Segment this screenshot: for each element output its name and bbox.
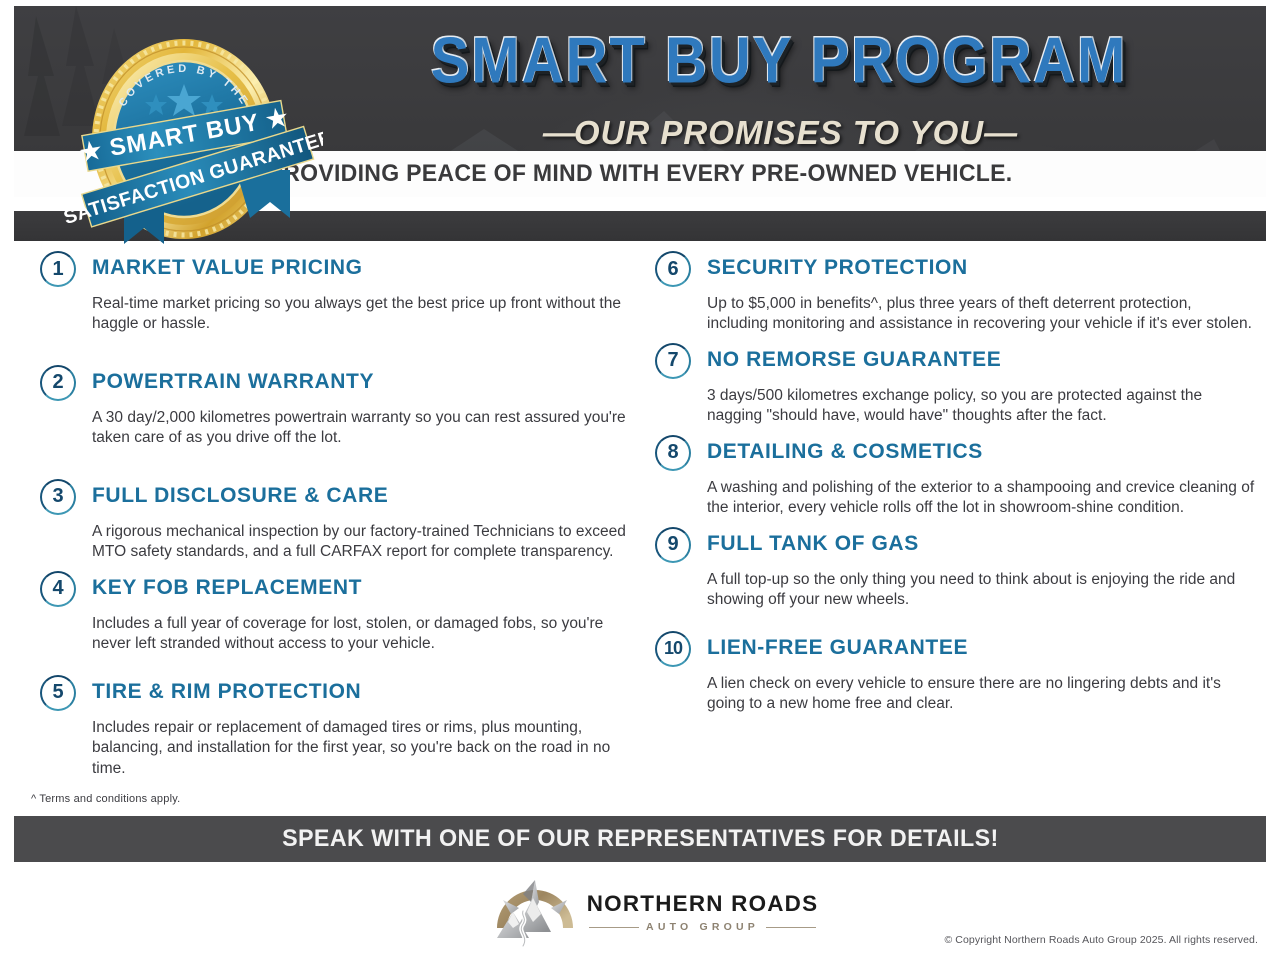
- promise-header: 7 NO REMORSE GUARANTEE: [655, 347, 1255, 379]
- smart-buy-satisfaction-guarantee-badge-icon: COVERED BY THE ★ SMART BUY ★ SATISFACTIO…: [58, 22, 323, 257]
- promise-number-badge: 1: [40, 251, 76, 287]
- promise-description: A washing and polishing of the exterior …: [707, 478, 1255, 519]
- promise-description: A rigorous mechanical inspection by our …: [92, 522, 640, 563]
- promise-item: 9 FULL TANK OF GAS A full top-up so the …: [655, 531, 1255, 611]
- promise-item: 8 DETAILING & COSMETICS A washing and po…: [655, 439, 1255, 519]
- brand-logo: NORTHERN ROADS AUTO GROUP: [489, 878, 819, 948]
- promise-description: A full top-up so the only thing you need…: [707, 570, 1255, 611]
- promises-section: 1 MARKET VALUE PRICING Real-time market …: [0, 255, 1280, 810]
- brand-wordmark: NORTHERN ROADS AUTO GROUP: [589, 893, 816, 933]
- promise-item: 4 KEY FOB REPLACEMENT Includes a full ye…: [40, 575, 640, 655]
- promise-number-badge: 9: [655, 527, 691, 563]
- brand-rule-left: [589, 927, 639, 928]
- subtitle-dash-left: —: [543, 114, 574, 151]
- promise-header: 2 POWERTRAIN WARRANTY: [40, 369, 640, 401]
- promise-description: 3 days/500 kilometres exchange policy, s…: [707, 386, 1255, 427]
- subtitle-dash-right: —: [984, 114, 1015, 151]
- promise-description: A lien check on every vehicle to ensure …: [707, 674, 1255, 715]
- promises-column-left: 1 MARKET VALUE PRICING Real-time market …: [40, 255, 640, 795]
- promise-number-badge: 2: [40, 365, 76, 401]
- brand-name: NORTHERN ROADS: [587, 893, 819, 915]
- smart-buy-program-flyer: SMART BUY PROGRAM —OUR PROMISES TO YOU— …: [0, 0, 1280, 960]
- promise-description: A 30 day/2,000 kilometres powertrain war…: [92, 408, 640, 449]
- page-title: SMART BUY PROGRAM: [314, 29, 1244, 94]
- promise-number-badge: 6: [655, 251, 691, 287]
- promise-description: Up to $5,000 in benefits^, plus three ye…: [707, 294, 1255, 335]
- terms-note: ^ Terms and conditions apply.: [31, 793, 180, 805]
- northern-roads-mountain-compass-icon: [489, 878, 581, 948]
- cta-bar: SPEAK WITH ONE OF OUR REPRESENTATIVES FO…: [14, 816, 1266, 862]
- promise-number-badge: 4: [40, 571, 76, 607]
- brand-tagline-text: AUTO GROUP: [646, 921, 759, 933]
- promise-header: 3 FULL DISCLOSURE & CARE: [40, 483, 640, 515]
- promise-header: 9 FULL TANK OF GAS: [655, 531, 1255, 563]
- promise-number-badge: 3: [40, 479, 76, 515]
- promise-title: LIEN-FREE GUARANTEE: [707, 635, 968, 661]
- promise-description: Includes repair or replacement of damage…: [92, 718, 640, 779]
- promise-number-badge: 7: [655, 343, 691, 379]
- promise-title: SECURITY PROTECTION: [707, 255, 968, 281]
- promise-item: 10 LIEN-FREE GUARANTEE A lien check on e…: [655, 635, 1255, 715]
- promises-column-right: 6 SECURITY PROTECTION Up to $5,000 in be…: [655, 255, 1255, 731]
- promise-number-badge: 5: [40, 675, 76, 711]
- promise-header: 4 KEY FOB REPLACEMENT: [40, 575, 640, 607]
- brand-tagline: AUTO GROUP: [589, 921, 816, 933]
- copyright-text: © Copyright Northern Roads Auto Group 20…: [944, 934, 1258, 946]
- promise-header: 5 TIRE & RIM PROTECTION: [40, 679, 640, 711]
- subtitle-text: OUR PROMISES TO YOU: [574, 114, 984, 151]
- promise-item: 2 POWERTRAIN WARRANTY A 30 day/2,000 kil…: [40, 369, 640, 449]
- promise-number-badge: 8: [655, 435, 691, 471]
- promise-item: 6 SECURITY PROTECTION Up to $5,000 in be…: [655, 255, 1255, 335]
- promise-item: 7 NO REMORSE GUARANTEE 3 days/500 kilome…: [655, 347, 1255, 427]
- promise-header: 10 LIEN-FREE GUARANTEE: [655, 635, 1255, 667]
- promise-item: 5 TIRE & RIM PROTECTION Includes repair …: [40, 679, 640, 779]
- promise-description: Includes a full year of coverage for los…: [92, 614, 640, 655]
- promise-description: Real-time market pricing so you always g…: [92, 294, 640, 335]
- promise-header: 8 DETAILING & COSMETICS: [655, 439, 1255, 471]
- promise-title: NO REMORSE GUARANTEE: [707, 347, 1001, 373]
- header-title-group: SMART BUY PROGRAM —OUR PROMISES TO YOU—: [314, 32, 1244, 152]
- promise-item: 3 FULL DISCLOSURE & CARE A rigorous mech…: [40, 483, 640, 563]
- promise-number-badge: 10: [655, 631, 691, 667]
- cta-text: SPEAK WITH ONE OF OUR REPRESENTATIVES FO…: [282, 825, 999, 853]
- footer: NORTHERN ROADS AUTO GROUP © Copyright No…: [0, 862, 1280, 960]
- promise-title: DETAILING & COSMETICS: [707, 439, 983, 465]
- promise-title: POWERTRAIN WARRANTY: [92, 369, 374, 395]
- page-subtitle: —OUR PROMISES TO YOU—: [314, 114, 1244, 152]
- brand-rule-right: [766, 927, 816, 928]
- promise-title: KEY FOB REPLACEMENT: [92, 575, 362, 601]
- promise-header: 6 SECURITY PROTECTION: [655, 255, 1255, 287]
- promise-title: FULL TANK OF GAS: [707, 531, 919, 557]
- promise-title: MARKET VALUE PRICING: [92, 255, 363, 281]
- promise-item: 1 MARKET VALUE PRICING Real-time market …: [40, 255, 640, 335]
- promise-title: FULL DISCLOSURE & CARE: [92, 483, 388, 509]
- promise-title: TIRE & RIM PROTECTION: [92, 679, 361, 705]
- promise-header: 1 MARKET VALUE PRICING: [40, 255, 640, 287]
